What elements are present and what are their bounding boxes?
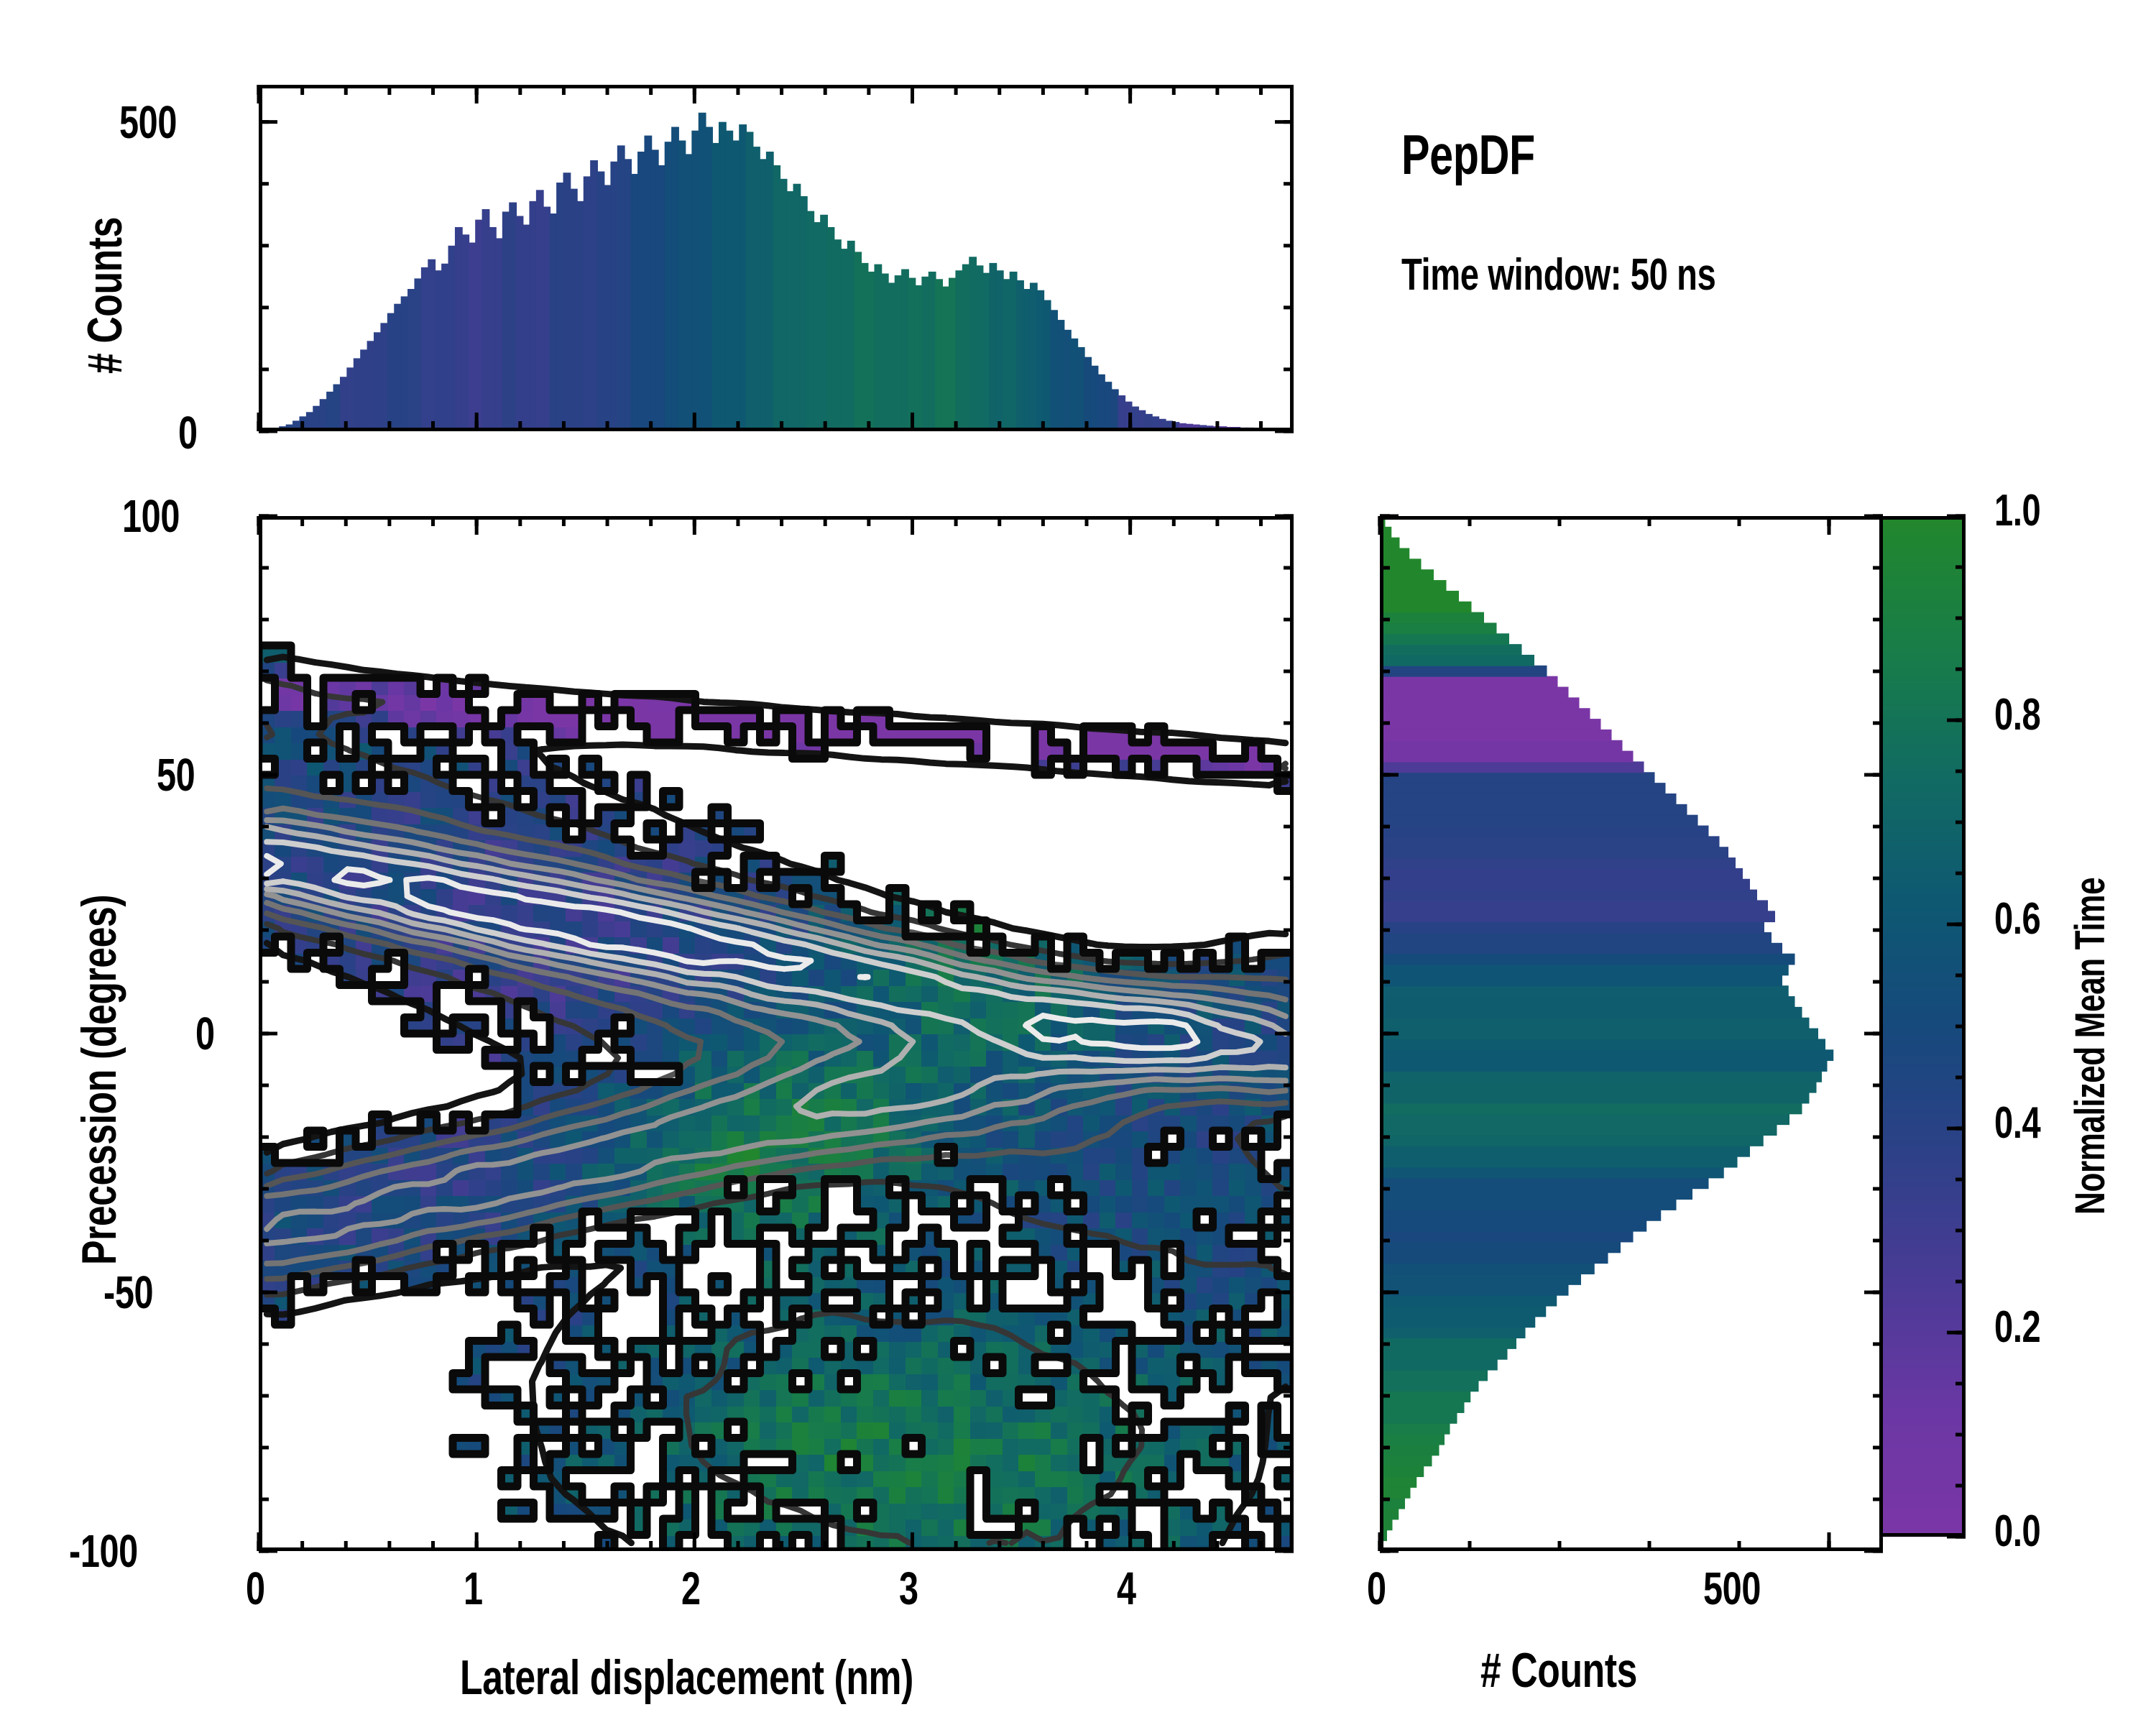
figure-root: PepDF Time window: 50 ns # Counts 0 500 … [0,0,2156,1725]
colorbar-label: Normalized Mean Time [2070,878,2111,1215]
colorbar-tick-0: 0.0 [1994,1509,2040,1554]
top-hist-ylabel: # Counts [80,217,129,374]
main-ytick-0: 0 [195,1011,215,1057]
main-xlabel: Lateral displacement (nm) [460,1653,913,1702]
main-xtick-0: 0 [246,1565,265,1611]
main-ytick-100: 100 [122,493,180,539]
right-hist-xtick-0: 0 [1367,1565,1386,1611]
main-ytick-50: 50 [157,752,195,798]
main-xtick-2: 2 [681,1565,701,1611]
colorbar-tick-2: 0.4 [1994,1101,2040,1146]
top-hist-ytick-0: 0 [178,410,198,456]
colorbar-tick-4: 0.8 [1994,693,2040,737]
figure-canvas [0,0,2156,1725]
colorbar-tick-5: 1.0 [1994,489,2040,533]
plot-title: PepDF [1401,126,1535,183]
colorbar-tick-1: 0.2 [1994,1305,2040,1350]
right-hist-xtick-500: 500 [1703,1565,1761,1611]
main-xtick-3: 3 [899,1565,918,1611]
plot-subtitle: Time window: 50 ns [1401,253,1715,298]
main-ytick-neg100: -100 [69,1528,138,1574]
top-hist-ytick-500: 500 [119,99,177,145]
colorbar-tick-3: 0.6 [1994,897,2040,942]
main-ylabel: Precession (degrees) [75,895,124,1265]
right-hist-xlabel: # Counts [1480,1646,1637,1695]
main-xtick-4: 4 [1117,1565,1136,1611]
main-ytick-neg50: -50 [103,1269,153,1315]
main-xtick-1: 1 [464,1565,483,1611]
